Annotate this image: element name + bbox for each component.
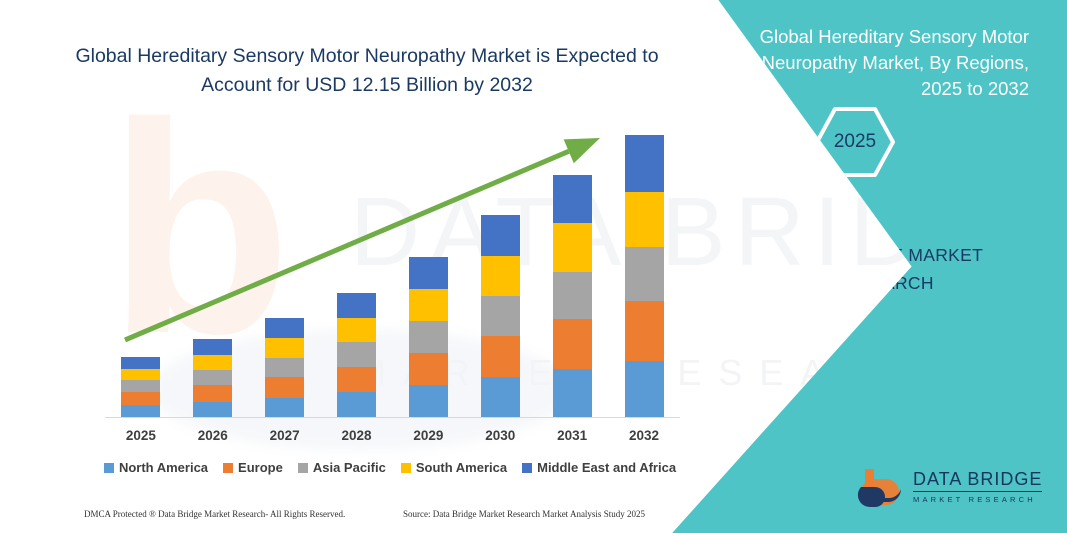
legend-label: North America	[119, 460, 208, 475]
stacked-bar-2027[interactable]	[265, 318, 304, 417]
bar-segment[interactable]	[553, 223, 592, 271]
footer-source: Source: Data Bridge Market Research Mark…	[403, 509, 645, 519]
stacked-bar-2030[interactable]	[481, 215, 520, 417]
stacked-bar-2025[interactable]	[121, 357, 160, 417]
legend-item[interactable]: Asia Pacific	[298, 460, 386, 475]
bar-segment[interactable]	[625, 247, 664, 301]
chart-plot-area	[105, 120, 680, 418]
hexagon-end-year-label: 2032	[740, 130, 832, 210]
bar-slot	[393, 120, 465, 417]
company-logo: DATA BRIDGE MARKET RESEARCH	[857, 465, 1045, 511]
bar-segment[interactable]	[121, 405, 160, 417]
stacked-bar-2026[interactable]	[193, 339, 232, 417]
bar-slot	[249, 120, 321, 417]
hexagon-start-year-label: 2025	[814, 106, 896, 178]
stacked-bar-2028[interactable]	[337, 293, 376, 417]
legend-swatch-icon	[223, 463, 233, 473]
bar-segment[interactable]	[265, 358, 304, 377]
hexagon-badge-end-year: 2032	[740, 130, 832, 210]
footer-copyright: DMCA Protected ® Data Bridge Market Rese…	[84, 509, 345, 519]
bar-segment[interactable]	[337, 342, 376, 367]
x-axis-label: 2025	[105, 428, 177, 443]
bar-segment[interactable]	[409, 353, 448, 386]
bar-segment[interactable]	[193, 339, 232, 354]
legend-item[interactable]: Europe	[223, 460, 283, 475]
bar-segment[interactable]	[553, 272, 592, 319]
x-axis-labels: 20252026202720282029203020312032	[105, 428, 680, 443]
stacked-bar-2031[interactable]	[553, 175, 592, 417]
x-axis-label: 2026	[177, 428, 249, 443]
stacked-bar-2032[interactable]	[625, 135, 664, 417]
chart-legend: North AmericaEuropeAsia PacificSouth Ame…	[100, 460, 680, 475]
bar-segment[interactable]	[625, 301, 664, 360]
x-axis-label: 2027	[249, 428, 321, 443]
legend-item[interactable]: South America	[401, 460, 507, 475]
bar-segment[interactable]	[553, 319, 592, 369]
legend-swatch-icon	[298, 463, 308, 473]
legend-swatch-icon	[401, 463, 411, 473]
legend-label: Middle East and Africa	[537, 460, 676, 475]
panel-title: Global Hereditary Sensory Motor Neuropat…	[739, 24, 1029, 102]
bar-segment[interactable]	[121, 369, 160, 380]
legend-item[interactable]: North America	[104, 460, 208, 475]
x-axis-label: 2031	[536, 428, 608, 443]
logo-name: DATA BRIDGE	[913, 469, 1042, 492]
x-axis-line	[105, 417, 680, 418]
panel-brand-text: DATA BRIDGE MARKET RESEARCH	[739, 241, 1029, 297]
bar-slot	[105, 120, 177, 417]
bar-slot	[536, 120, 608, 417]
bar-segment[interactable]	[481, 215, 520, 256]
logo-text-block: DATA BRIDGE MARKET RESEARCH	[913, 469, 1042, 504]
page-title: Global Hereditary Sensory Motor Neuropat…	[62, 42, 672, 100]
bar-segment[interactable]	[121, 392, 160, 404]
right-teal-panel: Global Hereditary Sensory Motor Neuropat…	[647, 0, 1067, 533]
x-axis-label: 2028	[321, 428, 393, 443]
bar-segment[interactable]	[625, 361, 664, 417]
legend-label: Asia Pacific	[313, 460, 386, 475]
bar-slot	[321, 120, 393, 417]
bar-segment[interactable]	[193, 355, 232, 370]
bar-segment[interactable]	[193, 370, 232, 385]
bar-segment[interactable]	[625, 192, 664, 247]
x-axis-label: 2030	[464, 428, 536, 443]
bar-segment[interactable]	[553, 175, 592, 223]
logo-mark-icon	[857, 465, 909, 509]
infographic-page: b DATA BRIDGE MARKET RESEARCH Global Her…	[0, 0, 1067, 533]
bar-segment[interactable]	[337, 367, 376, 393]
legend-swatch-icon	[522, 463, 532, 473]
bar-segment[interactable]	[121, 357, 160, 369]
x-axis-label: 2032	[608, 428, 680, 443]
bar-segment[interactable]	[409, 257, 448, 289]
bar-segment[interactable]	[265, 377, 304, 397]
x-axis-label: 2029	[393, 428, 465, 443]
bar-segment[interactable]	[409, 385, 448, 417]
logo-tagline: MARKET RESEARCH	[913, 495, 1042, 504]
stacked-bar-group	[105, 120, 680, 417]
bar-segment[interactable]	[481, 336, 520, 377]
bar-segment[interactable]	[265, 398, 304, 417]
bar-segment[interactable]	[409, 321, 448, 353]
bar-segment[interactable]	[481, 377, 520, 417]
bar-segment[interactable]	[553, 369, 592, 417]
legend-label: Europe	[238, 460, 283, 475]
legend-item[interactable]: Middle East and Africa	[522, 460, 676, 475]
bar-segment[interactable]	[409, 289, 448, 321]
bar-slot	[177, 120, 249, 417]
bar-segment[interactable]	[481, 256, 520, 296]
bar-segment[interactable]	[121, 380, 160, 392]
bar-segment[interactable]	[337, 318, 376, 343]
legend-swatch-icon	[104, 463, 114, 473]
bar-segment[interactable]	[337, 392, 376, 417]
bar-segment[interactable]	[481, 296, 520, 336]
bar-segment[interactable]	[193, 402, 232, 417]
bar-slot	[464, 120, 536, 417]
bar-segment[interactable]	[625, 135, 664, 191]
bar-slot	[608, 120, 680, 417]
legend-label: South America	[416, 460, 507, 475]
bar-segment[interactable]	[193, 385, 232, 401]
hexagon-badge-start-year: 2025	[814, 106, 896, 178]
bar-segment[interactable]	[265, 318, 304, 338]
bar-segment[interactable]	[265, 338, 304, 357]
stacked-bar-2029[interactable]	[409, 257, 448, 417]
bar-segment[interactable]	[337, 293, 376, 318]
